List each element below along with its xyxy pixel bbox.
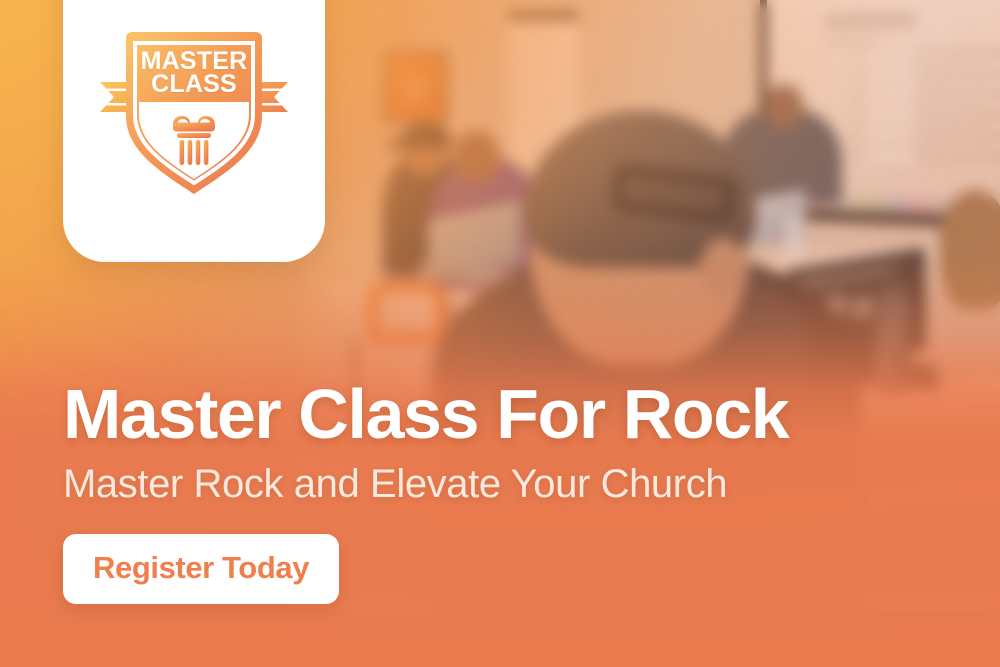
badge-line-2: CLASS xyxy=(86,73,302,96)
master-class-promo-banner: MASTER CLASS Master Class For Rock Maste… xyxy=(0,0,1000,667)
badge-text: MASTER CLASS xyxy=(86,50,302,96)
logo-card: MASTER CLASS xyxy=(63,0,325,262)
page-title: Master Class For Rock xyxy=(63,379,963,449)
register-today-button[interactable]: Register Today xyxy=(63,534,339,604)
master-class-badge: MASTER CLASS xyxy=(86,28,302,208)
page-subtitle: Master Rock and Elevate Your Church xyxy=(63,463,963,506)
promo-copy-block: Master Class For Rock Master Rock and El… xyxy=(63,379,963,667)
